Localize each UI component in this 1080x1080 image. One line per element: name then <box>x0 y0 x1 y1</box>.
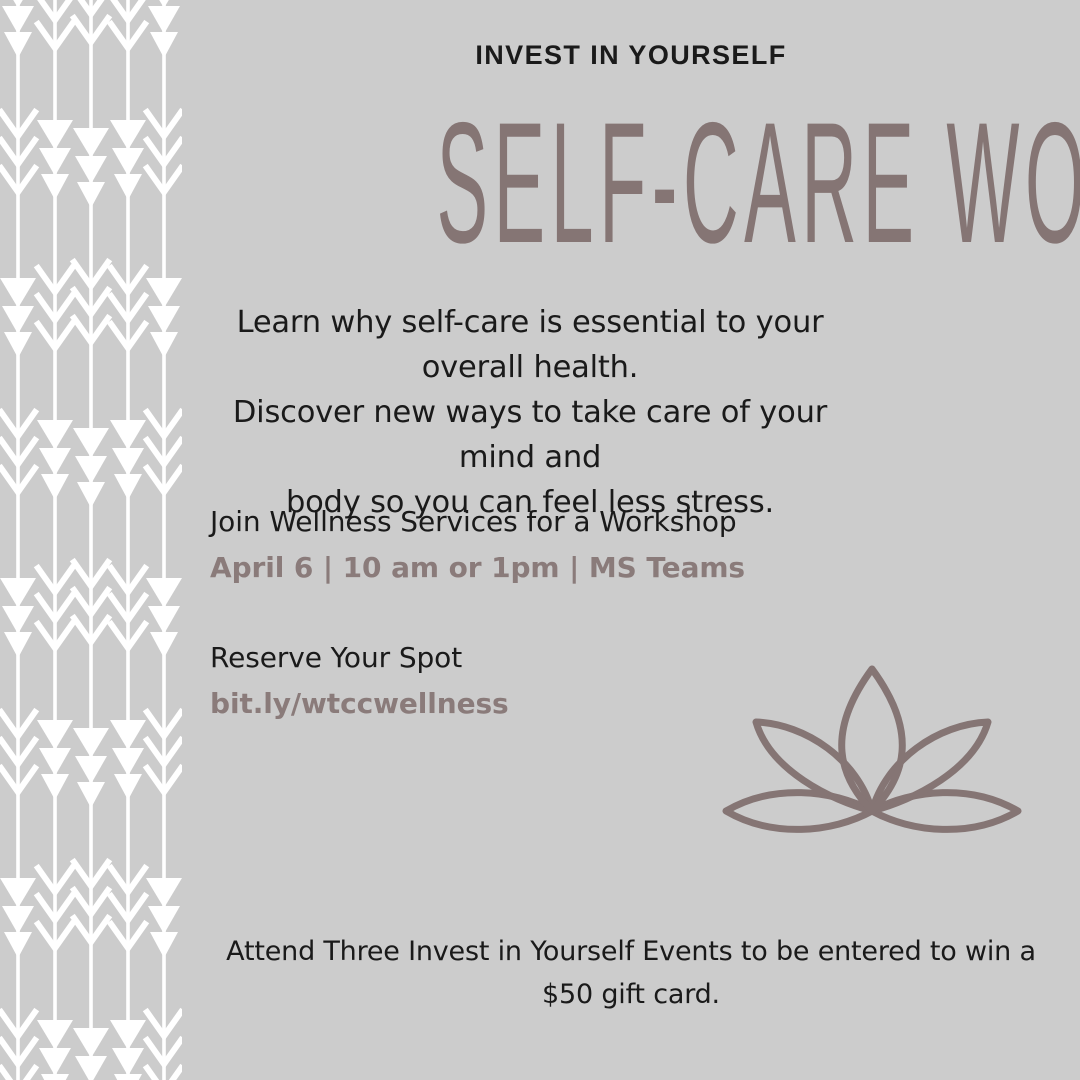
event-info: April 6 | 10 am or 1pm | MS Teams <box>210 544 910 592</box>
poster-canvas: INVEST IN YOURSELF SELF-CARE WORKSHOP Le… <box>0 0 1080 1080</box>
details-spacer <box>210 592 910 636</box>
lotus-flower-icon <box>712 648 1032 858</box>
intro-line-2: Discover new ways to take care of your m… <box>200 390 860 480</box>
footer-line-1: Attend Three Invest in Yourself Events t… <box>182 930 1080 973</box>
join-label: Join Wellness Services for a Workshop <box>210 500 910 544</box>
eyebrow-text: INVEST IN YOURSELF <box>182 40 1080 71</box>
intro-line-1: Learn why self-care is essential to your… <box>200 300 860 390</box>
intro-paragraph: Learn why self-care is essential to your… <box>200 300 860 525</box>
page-title: SELF-CARE WORKSHOP <box>437 104 824 262</box>
footer-note: Attend Three Invest in Yourself Events t… <box>182 930 1080 1016</box>
footer-line-2: $50 gift card. <box>182 973 1080 1016</box>
arrow-pattern-border <box>0 0 182 1080</box>
